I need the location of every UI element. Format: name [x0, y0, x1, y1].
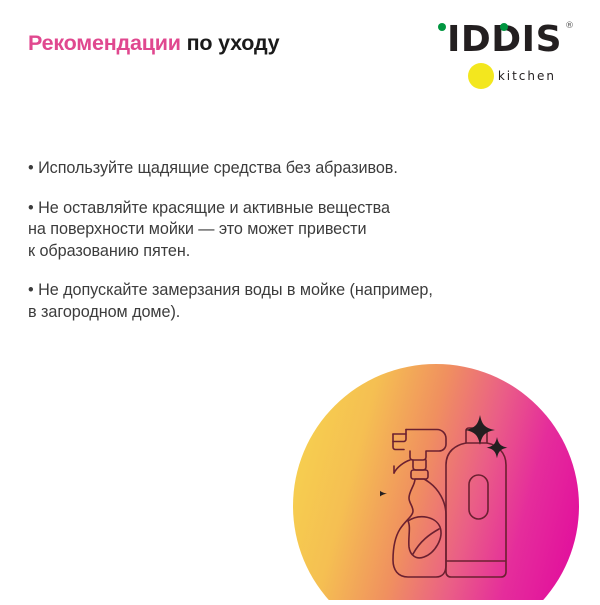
list-item: • Используйте щадящие средства без абраз…: [28, 158, 548, 180]
bullet-line: • Не оставляйте красящие и активные веще…: [28, 198, 548, 220]
brand-logo: IDDIS ® kitchen: [434, 20, 574, 90]
bullet-line: • Используйте щадящие средства без абраз…: [28, 158, 548, 180]
list-item: • Не допускайте замерзания воды в мойке …: [28, 280, 548, 323]
bullet-text: Используйте щадящие средства без абразив…: [38, 159, 398, 177]
page-title: Рекомендации по уходу: [28, 33, 279, 55]
logo-dot-second-i-icon: [500, 23, 508, 31]
logo-wordmark-text: IDDIS: [447, 20, 574, 60]
registered-trademark-icon: ®: [565, 22, 574, 31]
logo-yellow-circle-icon: [468, 63, 494, 89]
bullet-marker: •: [28, 281, 34, 299]
bullet-line: • Не допускайте замерзания воды в мойке …: [28, 280, 548, 302]
bullet-text: Не оставляйте красящие и активные вещест…: [38, 199, 390, 217]
logo-dot-first-i-icon: [438, 23, 446, 31]
logo-sublabel-text: kitchen: [498, 69, 556, 83]
page-title-accent: Рекомендации: [28, 31, 181, 55]
sparkle-left-icon: [380, 483, 387, 504]
sparkle-large-icon: [465, 415, 495, 445]
bullet-text: Не допускайте замерзания воды в мойке (н…: [38, 281, 433, 299]
bullet-line: в загородном доме).: [28, 302, 548, 324]
page-header: Рекомендации по уходу IDDIS ® kitchen: [0, 0, 600, 110]
spray-bottle-icon: [393, 430, 446, 578]
care-recommendations-list: • Используйте щадящие средства без абраз…: [28, 158, 548, 323]
bullet-line: на поверхности мойки — это может привест…: [28, 219, 548, 241]
bullet-marker: •: [28, 159, 34, 177]
page-title-rest: по уходу: [181, 31, 280, 55]
cleaning-products-illustration: [380, 415, 540, 590]
bullet-marker: •: [28, 199, 34, 217]
logo-sublabel: kitchen: [446, 62, 556, 92]
list-item: • Не оставляйте красящие и активные веще…: [28, 198, 548, 263]
bullet-line: к образованию пятен.: [28, 241, 548, 263]
logo-wordmark: IDDIS ®: [434, 20, 574, 60]
